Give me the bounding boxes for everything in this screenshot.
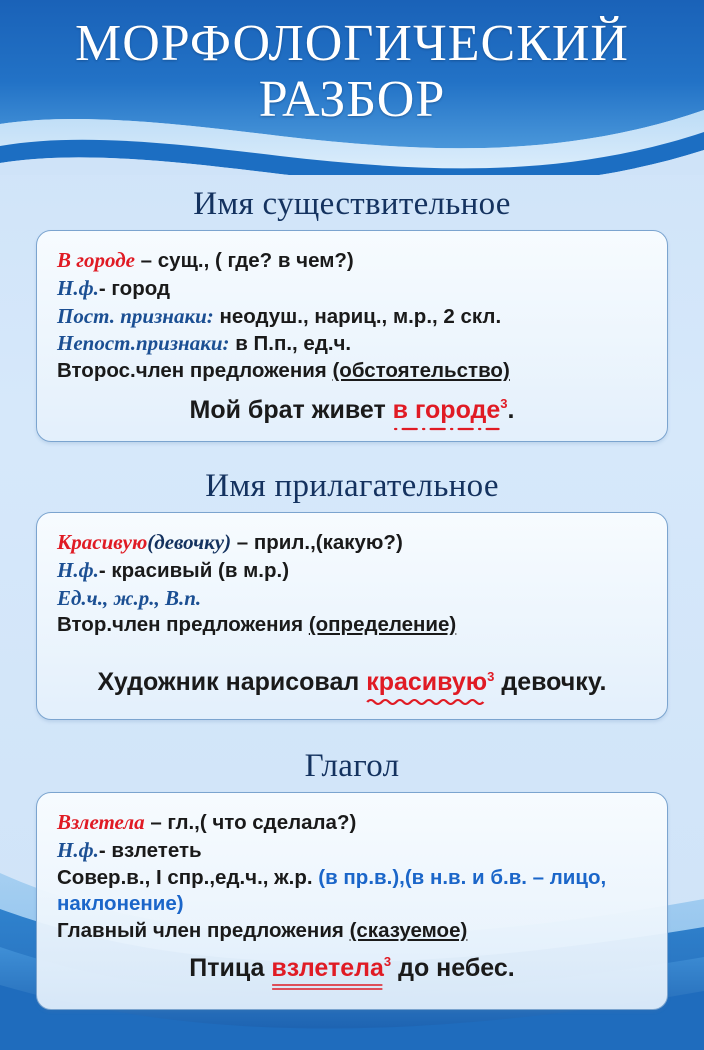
noun-variable-features-label: Непост.признаки: bbox=[57, 331, 230, 355]
verb-example-superscript: 3 bbox=[384, 954, 391, 970]
adj-line-2: Н.ф.- красивый (в м.р.) bbox=[57, 557, 647, 585]
verb-example-before: Птица bbox=[189, 954, 271, 982]
card-noun: В городе – сущ., ( где? в чем?) Н.ф.- го… bbox=[36, 230, 668, 442]
noun-initial-form-label: Н.ф. bbox=[57, 276, 99, 300]
adj-line-4: Втор.член предложения (определение) bbox=[57, 612, 647, 639]
noun-line-1-text: – сущ., ( где? в чем?) bbox=[135, 249, 354, 272]
adj-example-before: Художник нарисовал bbox=[98, 668, 367, 696]
verb-example-marker-double-line bbox=[271, 983, 384, 991]
adj-role-text: Втор.член предложения bbox=[57, 613, 309, 636]
noun-analyzed-word: В городе bbox=[57, 248, 135, 272]
verb-role-text: Главный член предложения bbox=[57, 919, 350, 942]
noun-example-highlight: в городе bbox=[393, 396, 501, 424]
verb-line-2: Н.ф.- взлететь bbox=[57, 837, 647, 865]
noun-example-superscript: 3 bbox=[500, 396, 507, 412]
poster-title: МОРФОЛОГИЧЕСКИЙ РАЗБОР bbox=[0, 18, 704, 126]
card-adjective: Красивую(девочку) – прил.,(какую?) Н.ф.-… bbox=[36, 512, 668, 720]
poster-title-line2: РАЗБОР bbox=[0, 74, 704, 126]
verb-initial-form-label: Н.ф. bbox=[57, 838, 99, 862]
card-verb: Взлетела – гл.,( что сделала?) Н.ф.- взл… bbox=[36, 792, 668, 1010]
noun-example-before: Мой брат живет bbox=[190, 396, 393, 424]
noun-example-highlight-wrap: в городе bbox=[393, 395, 501, 426]
adj-line-1-text: – прил.,(какую?) bbox=[231, 531, 403, 554]
adj-role-term: (определение) bbox=[309, 613, 456, 636]
section-verb: Глагол Взлетела – гл.,( что сделала?) Н.… bbox=[0, 748, 704, 1010]
noun-example-marker-dash-dot bbox=[393, 425, 501, 433]
noun-line-3: Пост. признаки: неодуш., нариц., м.р., 2… bbox=[57, 303, 647, 331]
verb-line-1: Взлетела – гл.,( что сделала?) bbox=[57, 809, 647, 837]
verb-line-1-text: – гл.,( что сделала?) bbox=[145, 811, 357, 834]
adj-example-after: девочку. bbox=[494, 668, 606, 696]
noun-line-2: Н.ф.- город bbox=[57, 275, 647, 303]
verb-line-4: Главный член предложения (сказуемое) bbox=[57, 918, 647, 945]
noun-example-after: . bbox=[508, 396, 515, 424]
poster-header: МОРФОЛОГИЧЕСКИЙ РАЗБОР bbox=[0, 0, 704, 175]
adj-head-noun: (девочку) bbox=[147, 530, 231, 554]
adj-line-1: Красивую(девочку) – прил.,(какую?) bbox=[57, 529, 647, 557]
noun-line-4-text: в П.п., ед.ч. bbox=[230, 332, 352, 355]
verb-line-3: Совер.в., I спр.,ед.ч., ж.р. (в пр.в.),(… bbox=[57, 865, 647, 918]
adj-example-highlight: красивую bbox=[366, 668, 487, 696]
verb-example-after: до небес. bbox=[391, 954, 515, 982]
adj-initial-form-label: Н.ф. bbox=[57, 558, 99, 582]
adj-analyzed-word: Красивую bbox=[57, 530, 147, 554]
noun-line-5: Второс.член предложения (обстоятельство) bbox=[57, 358, 647, 385]
noun-constant-features-label: Пост. признаки: bbox=[57, 304, 214, 328]
section-heading-verb: Глагол bbox=[0, 748, 704, 784]
noun-role-term: (обстоятельство) bbox=[332, 359, 509, 382]
section-noun: Имя существительное В городе – сущ., ( г… bbox=[0, 186, 704, 442]
noun-line-1: В городе – сущ., ( где? в чем?) bbox=[57, 247, 647, 275]
noun-example-sentence: Мой брат живет в городе3. bbox=[57, 395, 647, 426]
noun-line-4: Непост.признаки: в П.п., ед.ч. bbox=[57, 330, 647, 358]
verb-role-term: (сказуемое) bbox=[350, 919, 468, 942]
verb-line-2-text: - взлететь bbox=[99, 839, 202, 862]
verb-features-text: Совер.в., I спр.,ед.ч., ж.р. bbox=[57, 866, 318, 889]
verb-example-sentence: Птица взлетела3 до небес. bbox=[57, 953, 647, 984]
poster-root: МОРФОЛОГИЧЕСКИЙ РАЗБОР Имя существитель bbox=[0, 0, 704, 1050]
adj-example-superscript: 3 bbox=[487, 669, 494, 685]
section-adjective: Имя прилагательное Красивую(девочку) – п… bbox=[0, 468, 704, 720]
verb-analyzed-word: Взлетела bbox=[57, 810, 145, 834]
noun-role-text: Второс.член предложения bbox=[57, 359, 332, 382]
section-heading-noun: Имя существительное bbox=[0, 186, 704, 222]
adj-example-sentence: Художник нарисовал красивую3 девочку. bbox=[57, 667, 647, 698]
adj-line-2-text: - красивый (в м.р.) bbox=[99, 559, 289, 582]
adj-line-3: Ед.ч., ж.р., В.п. bbox=[57, 585, 647, 613]
noun-line-2-text: - город bbox=[99, 277, 170, 300]
section-heading-adjective: Имя прилагательное bbox=[0, 468, 704, 504]
poster-title-line1: МОРФОЛОГИЧЕСКИЙ bbox=[0, 18, 704, 70]
adj-example-marker-wavy bbox=[366, 697, 487, 705]
verb-example-highlight: взлетела bbox=[271, 954, 384, 982]
adj-features-label: Ед.ч., ж.р., В.п. bbox=[57, 586, 201, 610]
verb-example-highlight-wrap: взлетела bbox=[271, 953, 384, 984]
adj-example-highlight-wrap: красивую bbox=[366, 667, 487, 698]
noun-line-3-text: неодуш., нариц., м.р., 2 скл. bbox=[214, 305, 501, 328]
